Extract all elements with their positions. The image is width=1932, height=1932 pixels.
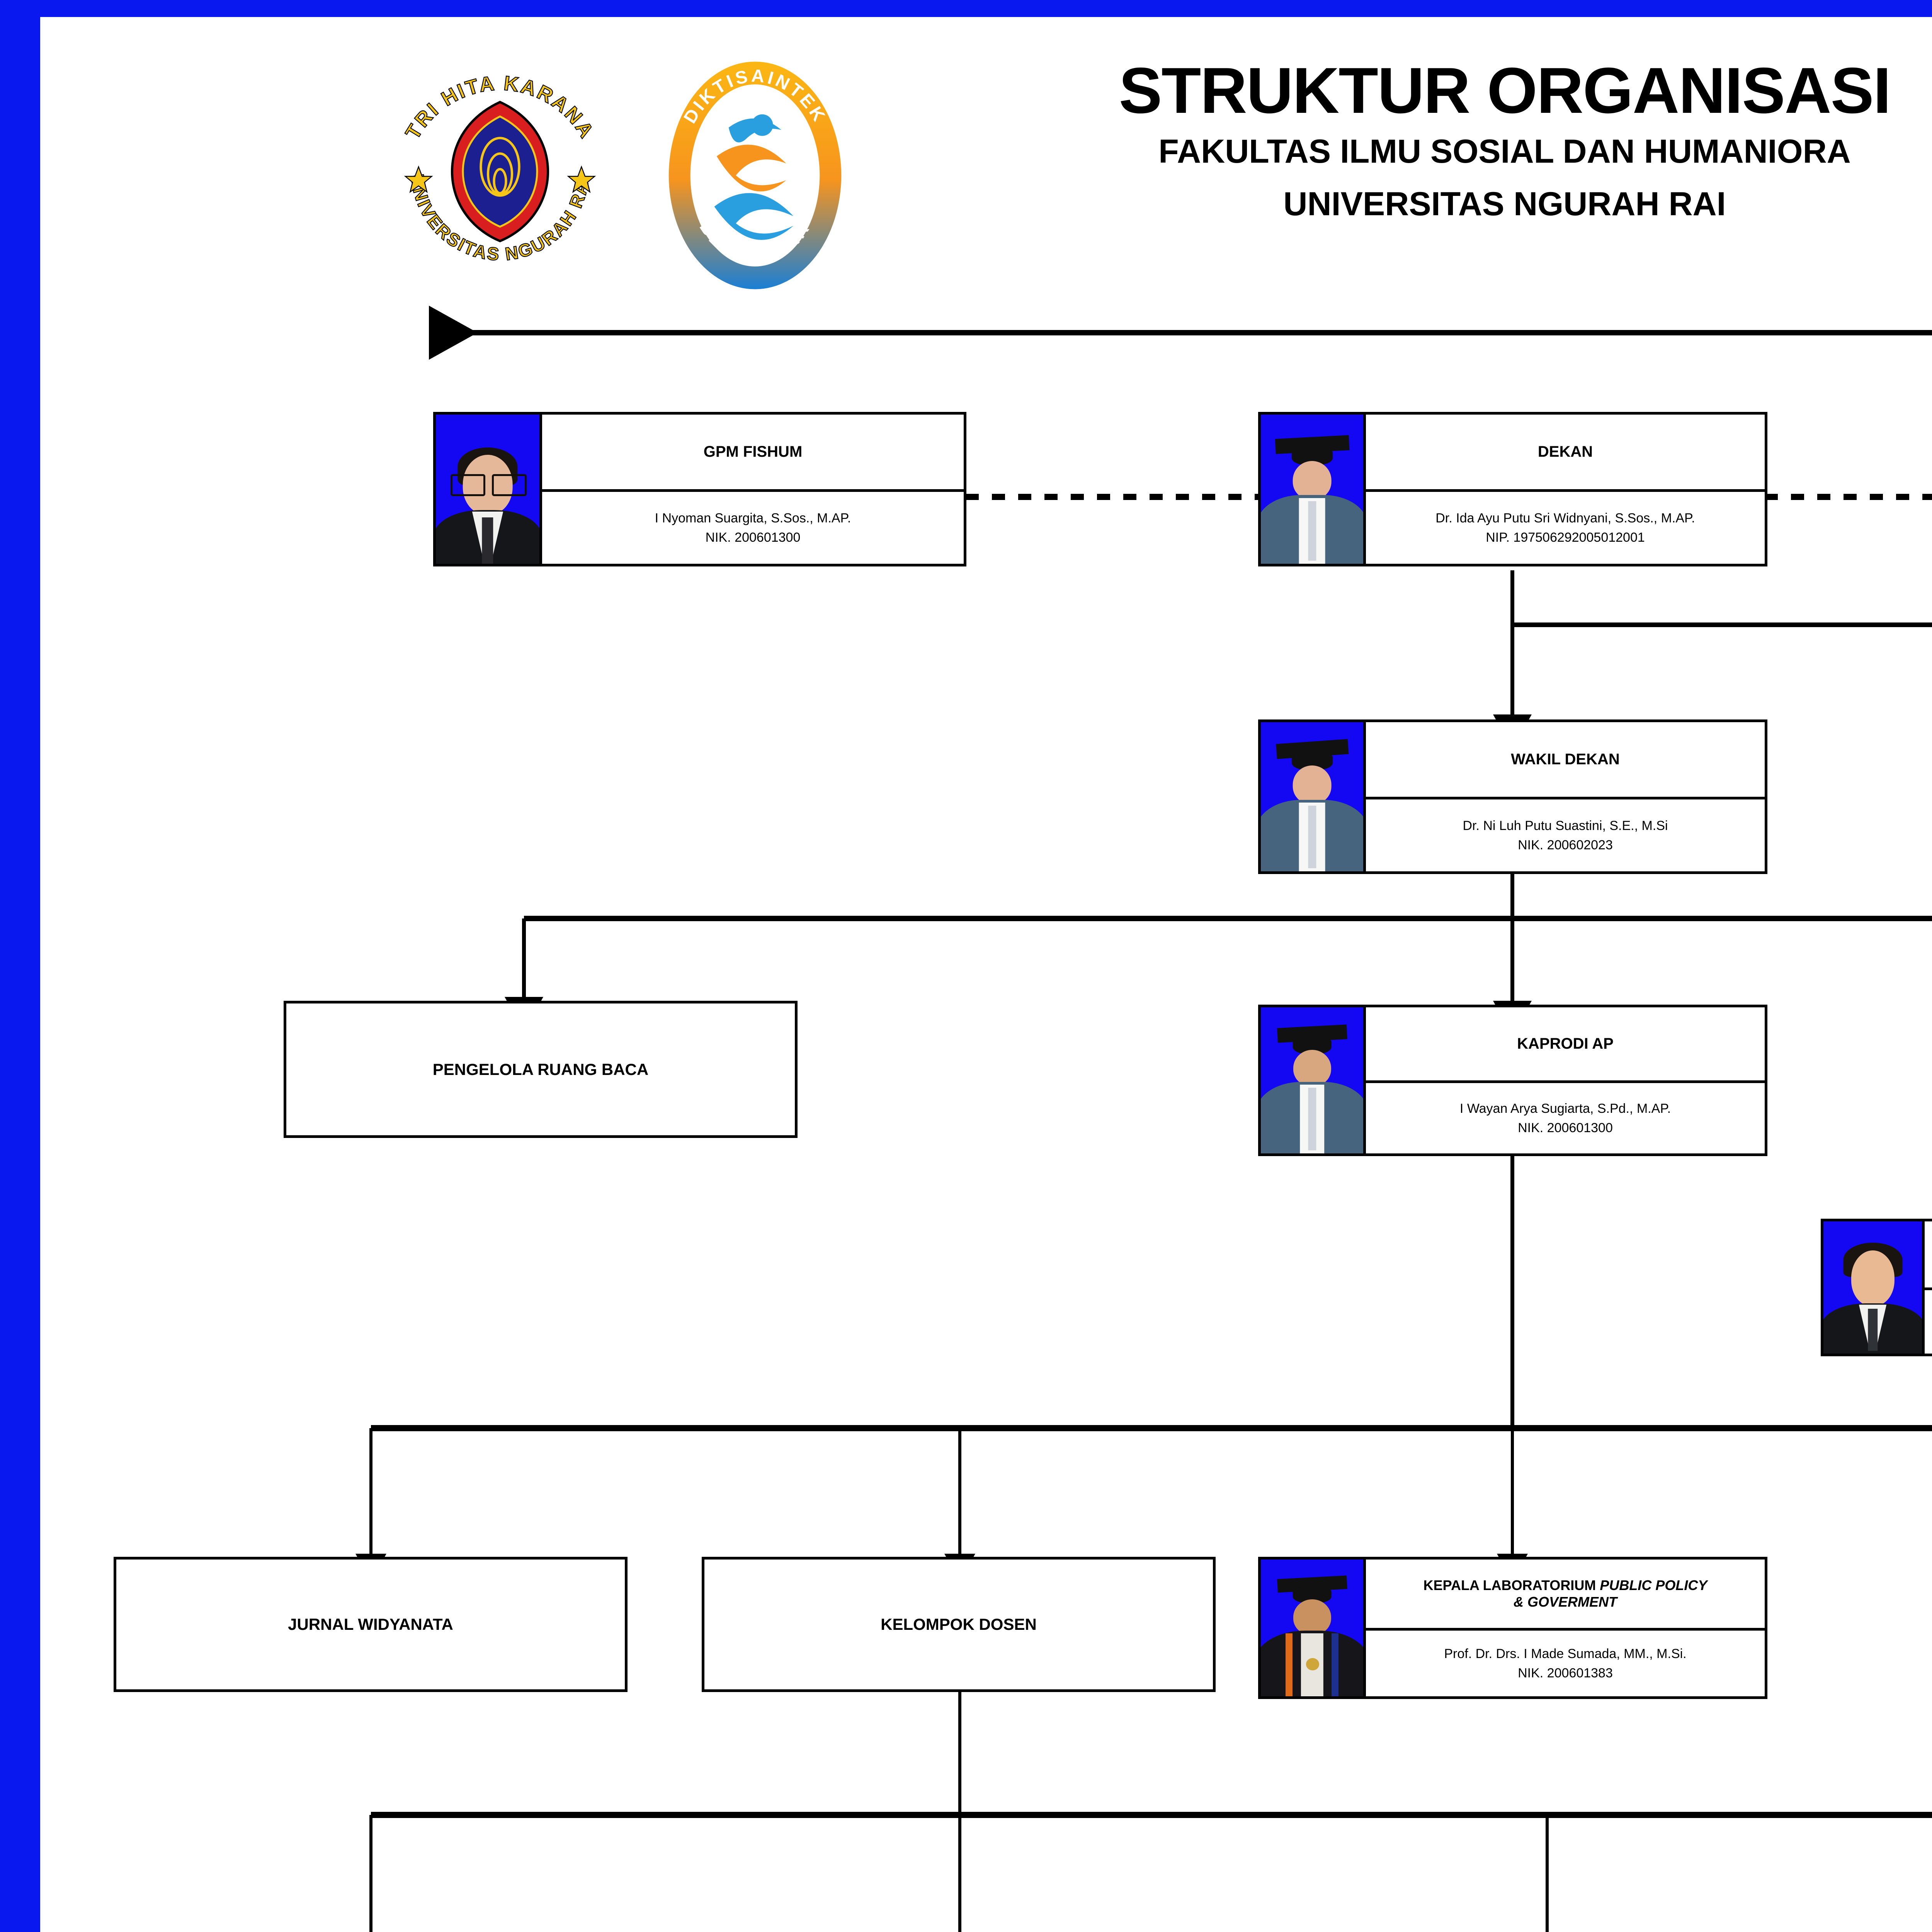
gpm-person-id: NIK. 200601300 [706,528,801,547]
gpm-photo [436,415,542,564]
wakil-dekan-person-id: NIK. 200602023 [1518,835,1613,855]
node-jurnal-widyanata[interactable]: JURNAL WIDYANATA [114,1557,628,1692]
kepala-lab-person-name: Prof. Dr. Drs. I Made Sumada, MM., M.Si. [1444,1644,1686,1663]
node-pengelola-ruang-baca[interactable]: PENGELOLA RUANG BACA [284,1001,798,1138]
node-wakil-dekan[interactable]: WAKIL DEKAN Dr. Ni Luh Putu Suastini, S.… [1258,719,1767,874]
title-main: STRUKTUR ORGANISASI [929,58,1932,124]
kepala-lab-photo [1261,1560,1366,1696]
page-title: STRUKTUR ORGANISASI FAKULTAS ILMU SOSIAL… [929,58,1932,227]
diktisaintek-berdampak-logo: DIKTISAINTEK BERDAMPAK [647,56,863,295]
node-gpm-fishum[interactable]: GPM FISHUM I Nyoman Suargita, S.Sos., M.… [433,412,966,566]
tri-hita-karana-logo: TRI HITA KARANA UNIVERSITAS NGURAH RAI [380,52,620,291]
dekan-role-label: DEKAN [1366,415,1765,489]
wakil-dekan-photo [1261,722,1366,871]
node-dekan[interactable]: DEKAN Dr. Ida Ayu Putu Sri Widnyani, S.S… [1258,412,1767,566]
title-sub-university: UNIVERSITAS NGURAH RAI [929,182,1932,226]
wakil-dekan-role-label: WAKIL DEKAN [1366,722,1765,797]
kelompok-dosen-role-label: KELOMPOK DOSEN [704,1612,1213,1636]
dekan-person-name: Dr. Ida Ayu Putu Sri Widnyani, S.Sos., M… [1435,509,1695,528]
dekan-person: Dr. Ida Ayu Putu Sri Widnyani, S.Sos., M… [1366,489,1765,564]
node-kepala-laboratorium[interactable]: KEPALA LABORATORIUM PUBLIC POLICY& GOVER… [1258,1557,1767,1699]
kabag-it-person: I Putu Mas Yuda Pratama, S.Kom. NIK. 200… [1925,1287,1932,1354]
wakil-dekan-person-name: Dr. Ni Luh Putu Suastini, S.E., M.Si [1463,816,1668,835]
organization-chart-page: TRI HITA KARANA UNIVERSITAS NGURAH RAI [0,0,1932,1932]
kaprodi-person-name: I Wayan Arya Sugiarta, S.Pd., M.AP. [1460,1099,1671,1118]
kepala-lab-role-label: KEPALA LABORATORIUM PUBLIC POLICY& GOVER… [1366,1560,1765,1628]
jurnal-role-label: JURNAL WIDYANATA [116,1612,625,1636]
dekan-photo [1261,415,1366,564]
node-kabag-it-akademik[interactable]: KABAG IT & AKADEMIK MAHASISWA I Putu Mas… [1821,1219,1932,1356]
kepala-lab-role-italic1: PUBLIC POLICY [1600,1577,1707,1593]
kaprodi-person: I Wayan Arya Sugiarta, S.Pd., M.AP. NIK.… [1366,1080,1765,1153]
wakil-dekan-person: Dr. Ni Luh Putu Suastini, S.E., M.Si NIK… [1366,797,1765,871]
title-sub-faculty: FAKULTAS ILMU SOSIAL DAN HUMANIORA [929,129,1932,174]
node-kelompok-dosen[interactable]: KELOMPOK DOSEN [702,1557,1216,1692]
node-kaprodi-ap[interactable]: KAPRODI AP I Wayan Arya Sugiarta, S.Pd.,… [1258,1005,1767,1156]
dekan-person-id: NIP. 197506292005012001 [1486,528,1645,547]
kepala-lab-role-prefix: KEPALA LABORATORIUM [1423,1577,1600,1593]
kaprodi-photo [1261,1007,1366,1153]
kaprodi-person-id: NIK. 200601300 [1518,1118,1613,1138]
chart-canvas: TRI HITA KARANA UNIVERSITAS NGURAH RAI [40,17,1932,1932]
gpm-person: I Nyoman Suargita, S.Sos., M.AP. NIK. 20… [542,489,964,564]
ruang-baca-role-label: PENGELOLA RUANG BACA [286,1058,795,1082]
gpm-person-name: I Nyoman Suargita, S.Sos., M.AP. [655,509,851,528]
chart-header: TRI HITA KARANA UNIVERSITAS NGURAH RAI [40,17,1932,311]
kepala-lab-person-id: NIK. 200601383 [1518,1663,1613,1683]
kepala-lab-person: Prof. Dr. Drs. I Made Sumada, MM., M.Si.… [1366,1628,1765,1696]
gpm-role-label: GPM FISHUM [542,415,964,489]
kaprodi-role-label: KAPRODI AP [1366,1007,1765,1080]
kabag-it-photo [1823,1221,1925,1354]
kabag-it-role-label: KABAG IT & AKADEMIK MAHASISWA [1925,1221,1932,1287]
kepala-lab-role-italic2: & GOVERMENT [1514,1594,1617,1610]
